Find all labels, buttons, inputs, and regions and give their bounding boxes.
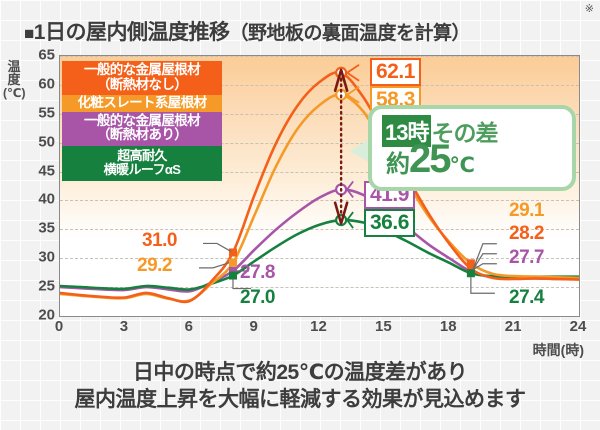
y-axis-tick-label: 30 [23, 249, 55, 266]
title-main: 1日の屋内側温度推移 [34, 21, 230, 44]
page-title: ■1日の屋内側温度推移（野地板の裏面温度を計算） [24, 16, 470, 46]
value-label-evening-28-2: 28.2 [509, 223, 544, 245]
data-point-marker [229, 259, 237, 267]
chart-legend: 一般的な金属屋根材 （断熱材なし） 化粧スレート系屋根材 一般的な金属屋根材 （… [62, 61, 222, 181]
leader-line [347, 65, 359, 81]
x-axis-title: 時間(時) [533, 340, 584, 360]
caption-line2: 屋内温度上昇を大幅に軽減する効果が見込めます [0, 387, 600, 414]
x-axis-tick-label: 15 [375, 318, 392, 335]
y-axis-tick-label: 55 [23, 104, 55, 121]
leader-line [471, 277, 495, 293]
data-point-marker [229, 248, 237, 256]
value-label-peak-62: 62.1 [370, 58, 421, 86]
leader-line [473, 244, 497, 270]
callout-row-bottom: 約25℃ [386, 141, 475, 179]
legend-label-line2: 横暖ルーフαS [64, 163, 220, 177]
x-axis-tick-label: 12 [310, 318, 327, 335]
y-axis-tick-label: 60 [23, 75, 55, 92]
x-axis-tick-label: 6 [185, 318, 193, 335]
leader-line [347, 212, 353, 228]
y-axis-tick-label: 45 [23, 162, 55, 179]
y-axis-title-line1: 温 [3, 60, 25, 73]
footnote-mark: ※ [585, 2, 594, 15]
x-axis-tick-label: 24 [570, 318, 587, 335]
y-axis-title-line3: (℃) [3, 87, 25, 99]
bottom-caption: 日中の時点で約25℃の温度差があり 屋内温度上昇を大幅に軽減する効果が見込めます [0, 360, 600, 414]
y-axis-title-line2: 度 [3, 73, 25, 86]
value-label-evening-27-4: 27.4 [509, 287, 544, 309]
difference-callout: 13時その差 約25℃ [368, 105, 576, 191]
x-axis-tick-label: 9 [249, 318, 257, 335]
value-label-evening-27-7: 27.7 [509, 247, 544, 269]
value-label-morning-27-0: 27.0 [240, 287, 275, 309]
legend-label-line1: 化粧スレート系屋根材 [64, 96, 220, 111]
x-axis-tick-label: 3 [120, 318, 128, 335]
value-label-peak-36: 36.6 [364, 209, 415, 237]
legend-item-metal-with-insulation: 一般的な金属屋根材 （断熱材あり） [62, 112, 222, 146]
y-axis-tick-label: 65 [23, 47, 55, 64]
y-axis-tick-label: 35 [23, 220, 55, 237]
title-paren: （野地板の裏面温度を計算） [229, 23, 470, 44]
value-label-morning-29: 29.2 [137, 255, 172, 277]
value-label-morning-27-8: 27.8 [240, 262, 275, 284]
legend-label-line2: （断熱材なし） [64, 78, 220, 93]
y-axis-tick-label: 40 [23, 191, 55, 208]
legend-label-line1: 一般的な金属屋根材 [64, 63, 220, 78]
callout-unit: ℃ [450, 154, 475, 177]
leader-line [203, 243, 231, 251]
legend-label-line1: 超高耐久 [64, 149, 220, 163]
x-axis-tick-label: 21 [505, 318, 522, 335]
caption-line1: 日中の時点で約25℃の温度差があり [0, 360, 600, 387]
callout-value: 25 [409, 137, 450, 181]
y-axis-tick-label: 50 [23, 133, 55, 150]
data-point-marker [467, 269, 475, 277]
x-axis-tick-label: 18 [440, 318, 457, 335]
legend-label-line2: （断熱材あり） [64, 128, 220, 143]
legend-item-metal-no-insulation: 一般的な金属屋根材 （断熱材なし） [62, 61, 222, 95]
y-axis-title: 温 度 (℃) [3, 60, 25, 99]
leader-line [199, 263, 229, 268]
x-axis-tick-label: 0 [55, 318, 63, 335]
leader-line [347, 87, 359, 103]
legend-item-slate: 化粧スレート系屋根材 [62, 95, 222, 112]
y-axis-tick-label: 25 [23, 278, 55, 295]
value-label-morning-31: 31.0 [142, 230, 177, 252]
data-point-marker [229, 272, 237, 280]
value-label-evening-29-1: 29.1 [509, 200, 544, 222]
legend-item-yokodan-roof: 超高耐久 横暖ルーフαS [62, 146, 222, 181]
y-axis-tick-label: 20 [23, 307, 55, 324]
leader-line [347, 181, 353, 197]
callout-approx: 約 [386, 151, 409, 178]
title-square-bullet: ■ [24, 24, 34, 43]
